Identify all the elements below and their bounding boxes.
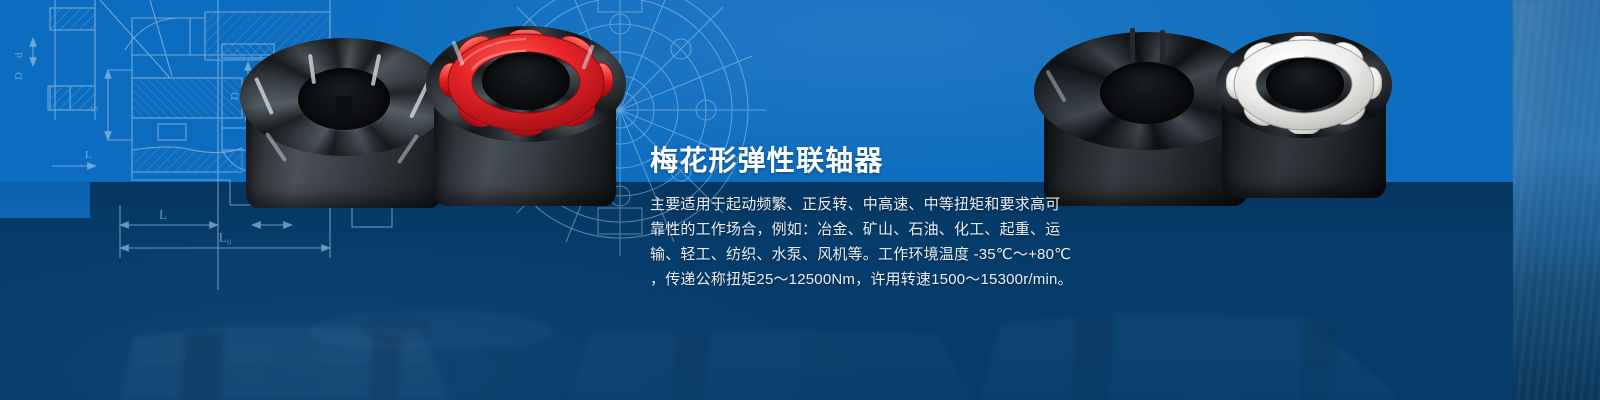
- description-line-4: ，传递公称扭矩25～12500Nm，许用转速1500～15300r/min。: [650, 267, 1070, 292]
- coupling-keyway: [336, 96, 352, 118]
- description-line-2: 靠性的工作场合，例如：冶金、矿山、石油、化工、起重、运: [650, 217, 1070, 242]
- product-banner: d D: [0, 0, 1600, 400]
- svg-text:L: L: [85, 149, 92, 161]
- product-group-left: [230, 8, 610, 218]
- coupling-bore: [1266, 58, 1344, 110]
- product-jaw-coupling-red-spider: [426, 22, 626, 208]
- coupling-bore: [482, 52, 570, 110]
- svg-text:S: S: [89, 106, 101, 112]
- description-line-1: 主要适用于起动频繁、正反转、中高速、中等扭矩和要求高可: [650, 192, 1070, 217]
- svg-text:L: L: [159, 207, 167, 222]
- product-jaw-coupling-white-spider: [1216, 30, 1392, 202]
- banner-title: 梅花形弹性联轴器: [650, 147, 884, 175]
- description-line-3: 输、轻工、纺织、水泵、风机等。工作环境温度 -35℃～+80℃: [650, 242, 1070, 267]
- coupling-bore: [1100, 62, 1194, 124]
- svg-text:L₀: L₀: [219, 230, 231, 245]
- svg-text:d: d: [13, 52, 25, 58]
- product-jaw-coupling-black: [240, 38, 448, 210]
- svg-text:D: D: [13, 72, 25, 80]
- banner-description: 主要适用于起动频繁、正反转、中高速、中等扭矩和要求高可 靠性的工作场合，例如：冶…: [650, 192, 1070, 292]
- banner-title-container: 梅花形弹性联轴器: [650, 140, 1170, 182]
- background-band-right-texture: [1513, 0, 1600, 400]
